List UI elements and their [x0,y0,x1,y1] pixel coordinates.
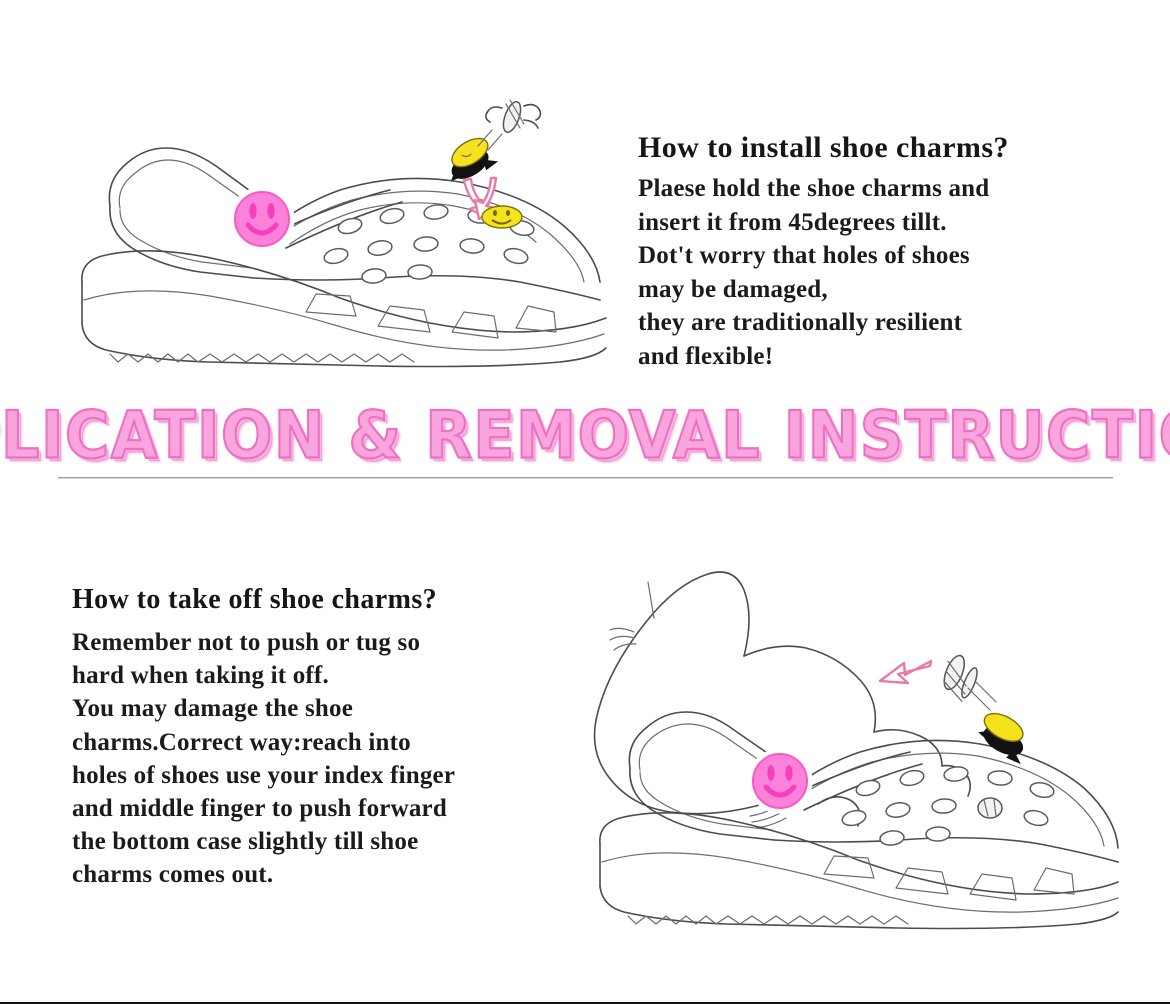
removal-line-6: and middle finger to push forward [72,792,455,825]
vent-holes [841,765,1056,846]
pink-smiley-charm [750,751,810,811]
banner: APPLICATION & REMOVAL INSTRUCTIONS [0,398,1170,472]
banner-title: APPLICATION & REMOVAL INSTRUCTIONS [0,403,1170,468]
seated-yellow-charm [482,206,522,228]
section-divider [58,477,1113,479]
install-line-4: may be damaged, [638,273,989,307]
removal-instructions: Remember not to push or tug so hard when… [72,626,455,892]
install-line-5: they are traditionally resilient [638,306,989,340]
install-diagram-clog [40,86,640,356]
install-line-2: insert it from 45degrees tillt. [638,206,989,240]
removal-line-8: charms comes out. [72,858,455,891]
removal-line-7: the bottom case slightly till shoe [72,825,455,858]
removal-line-5: holes of shoes use your index finger [72,759,455,792]
install-instructions: Plaese hold the shoe charms and insert i… [638,172,989,373]
removal-line-4: charms.Correct way:reach into [72,726,455,759]
instruction-sheet: How to install shoe charms? Plaese hold … [0,0,1170,1004]
install-line-3: Dot't worry that holes of shoes [638,239,989,273]
removal-line-3: You may damage the shoe [72,692,455,725]
install-line-1: Plaese hold the shoe charms and [638,172,989,206]
charm-removal-sequence [880,652,1036,818]
detached-peg [978,798,1002,818]
pink-smiley-charm [232,189,292,249]
removal-line-1: Remember not to push or tug so [72,626,455,659]
fingers-grip-icon [486,100,541,135]
install-heading: How to install shoe charms? [638,131,1009,165]
removal-diagram-clog [538,560,1118,920]
removal-line-2: hard when taking it off. [72,659,455,692]
install-line-6: and flexible! [638,340,989,374]
removal-heading: How to take off shoe charms? [72,584,437,616]
